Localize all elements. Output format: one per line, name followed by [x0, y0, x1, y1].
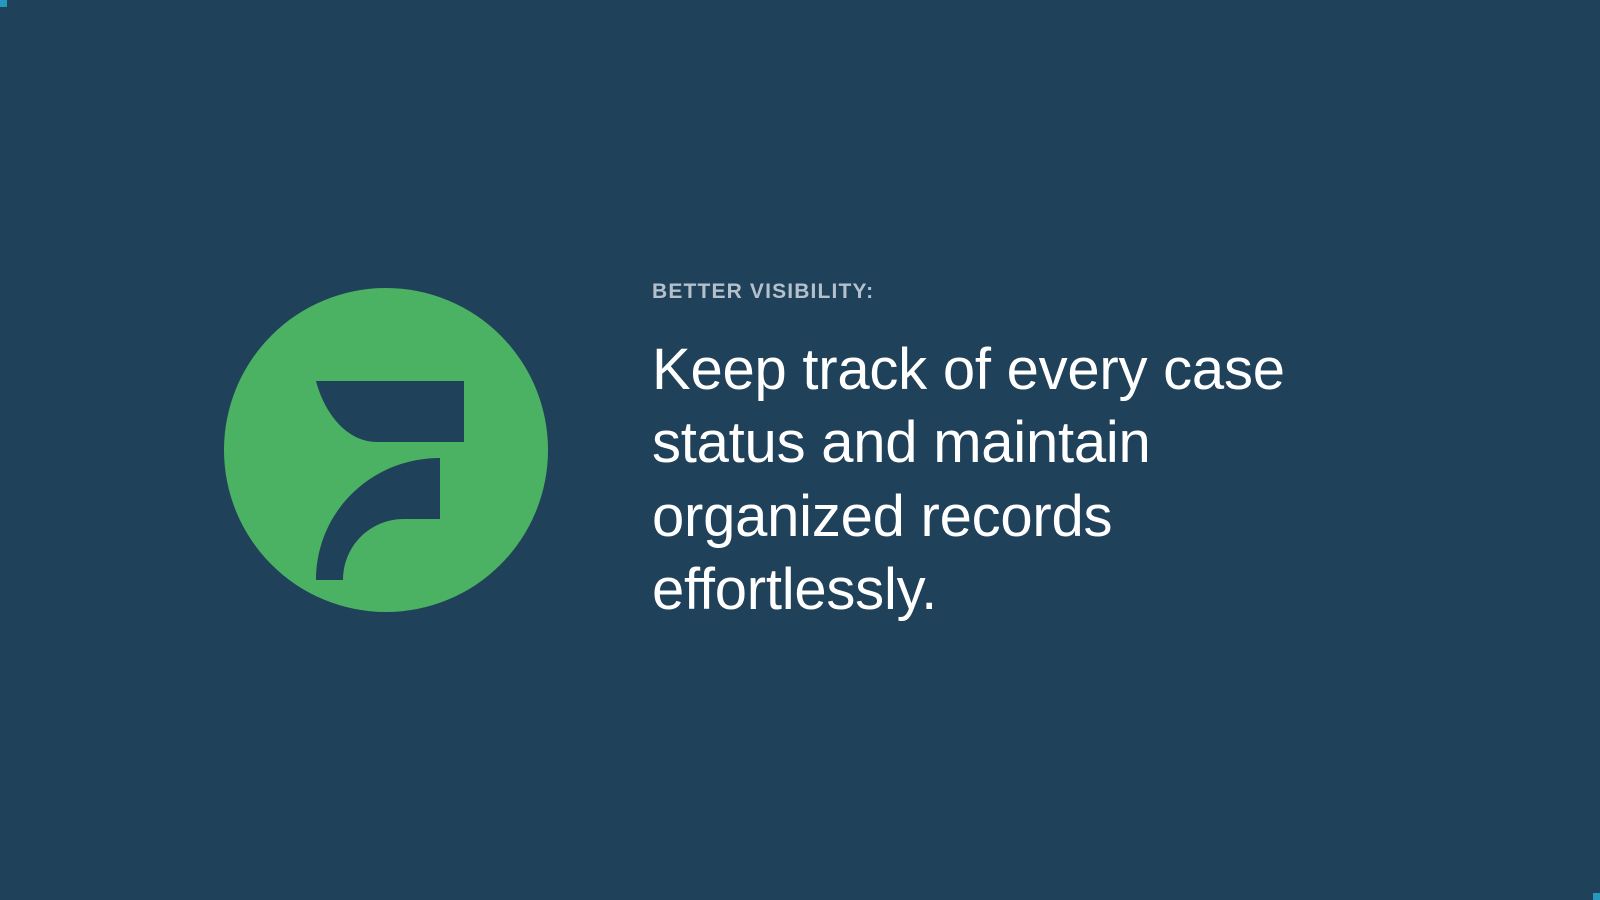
logo-column	[0, 0, 652, 900]
headline-text: Keep track of every case status and main…	[652, 333, 1352, 625]
slide-canvas: BETTER VISIBILITY: Keep track of every c…	[0, 0, 1600, 900]
logo-badge	[224, 288, 548, 612]
abstract-f-mark-icon	[224, 288, 548, 612]
eyebrow-label: BETTER VISIBILITY:	[652, 280, 874, 303]
text-column: BETTER VISIBILITY: Keep track of every c…	[652, 0, 1600, 900]
slide-content: BETTER VISIBILITY: Keep track of every c…	[0, 0, 1600, 900]
